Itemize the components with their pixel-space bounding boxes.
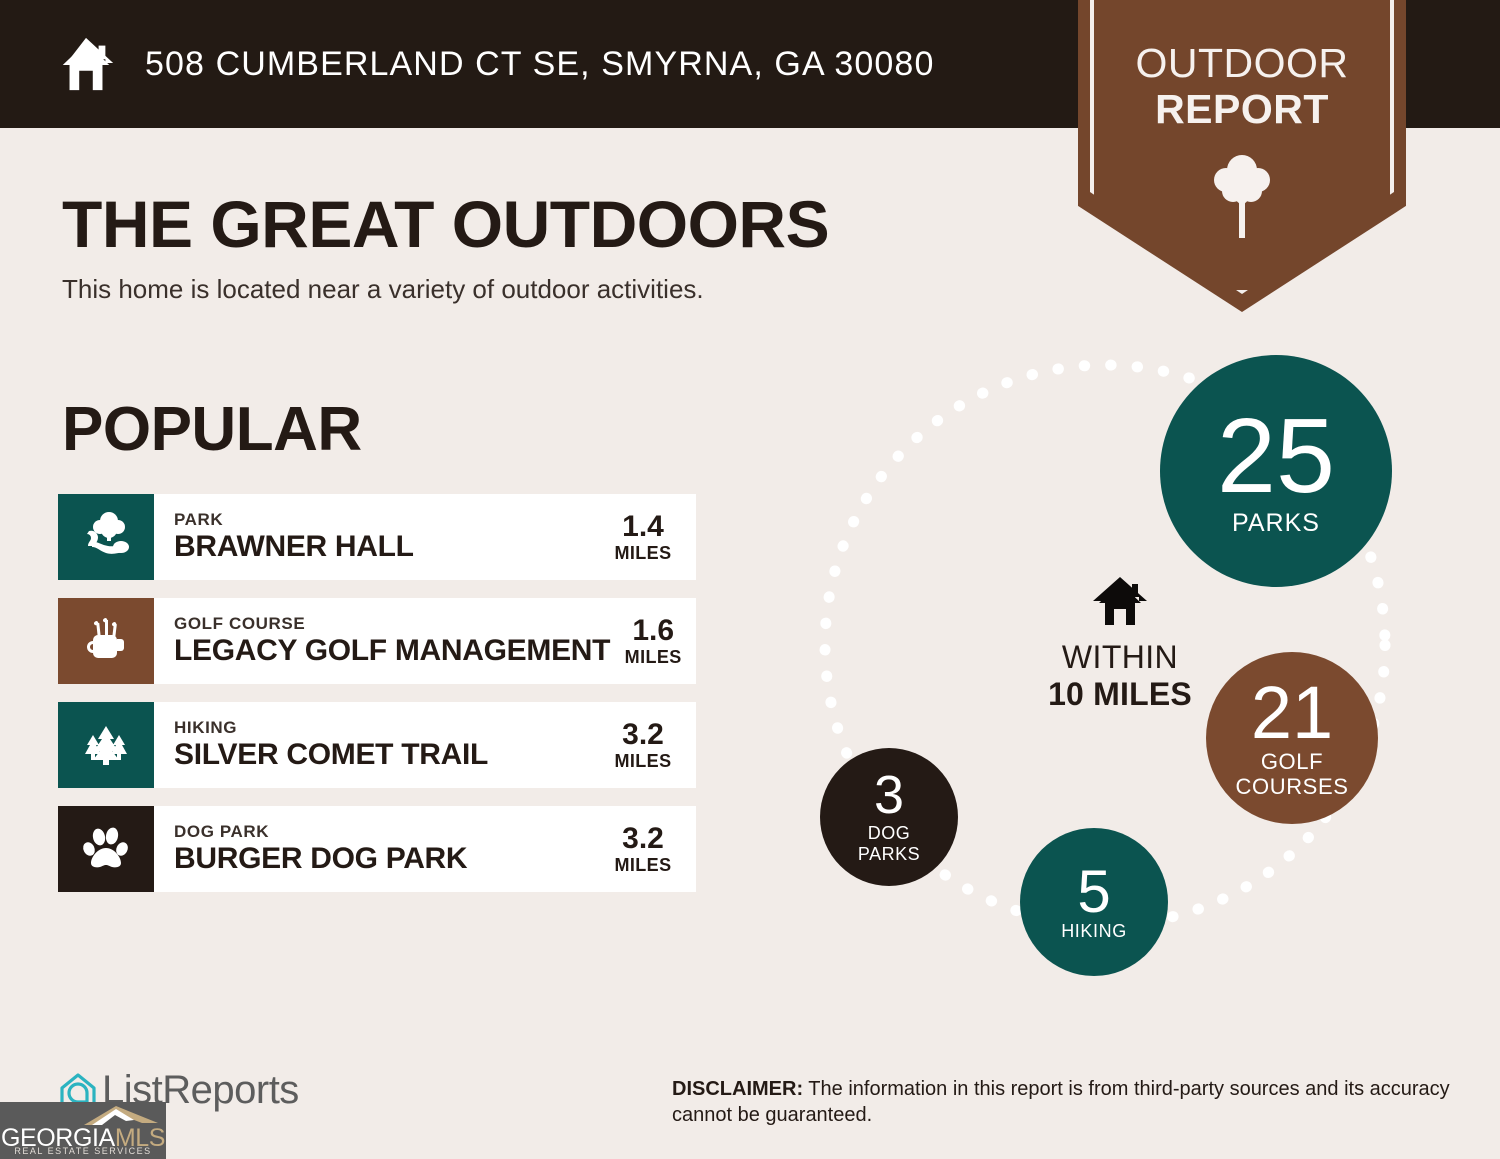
poi-name: BURGER DOG PARK [174,842,600,877]
poi-distance-unit: MILES [614,751,671,772]
bubble-golf-label-line2: COURSES [1236,775,1349,798]
paw-print-icon [80,821,132,878]
list-item[interactable]: HIKING SILVER COMET TRAIL 3.2 MILES [58,702,696,788]
bubble-dogparks-label-line1: DOG [868,824,911,843]
poi-name: SILVER COMET TRAIL [174,738,600,773]
bubble-center-line2: 10 MILES [1048,676,1192,713]
bubble-dogparks-value: 3 [874,770,904,821]
poi-distance: 1.6 MILES [610,598,706,684]
bubble-dog-parks[interactable]: 3 DOG PARKS [820,748,958,886]
poi-category: DOG PARK [174,822,600,842]
tree-icon [1209,150,1275,242]
page-title: THE GREAT OUTDOORS [62,186,829,262]
poi-text: HIKING SILVER COMET TRAIL [154,702,600,788]
poi-icon-box [58,494,154,580]
badge-title-line2: REPORT [1078,88,1406,131]
poi-text: GOLF COURSE LEGACY GOLF MANAGEMENT [154,598,610,684]
poi-distance-unit: MILES [625,647,682,668]
bubble-center-line1: WITHIN [1062,639,1178,676]
pine-trees-icon [80,717,132,774]
bubble-parks-label: PARKS [1232,510,1320,536]
bubble-golf-label-line1: GOLF [1261,750,1323,773]
poi-icon-box [58,598,154,684]
popular-poi-list: PARK BRAWNER HALL 1.4 MILES [58,494,696,910]
poi-distance-value: 3.2 [622,822,664,855]
poi-category: PARK [174,510,600,530]
poi-distance-unit: MILES [614,543,671,564]
popular-heading: POPULAR [62,394,362,465]
bubble-chart-center: WITHIN 10 MILES [970,575,1270,713]
golf-bag-icon [80,613,132,670]
disclaimer: DISCLAIMER: The information in this repo… [672,1076,1462,1129]
poi-text: PARK BRAWNER HALL [154,494,600,580]
park-tree-path-icon [80,509,132,566]
mls-subtitle: REAL ESTATE SERVICES [0,1146,166,1156]
poi-icon-box [58,702,154,788]
bubble-hiking-label: HIKING [1061,922,1127,941]
poi-name: BRAWNER HALL [174,530,600,565]
bubble-hiking-value: 5 [1077,863,1110,920]
bubble-dogparks-label-line2: PARKS [858,845,920,864]
poi-name: LEGACY GOLF MANAGEMENT [174,634,610,669]
bubble-parks[interactable]: 25 PARKS [1160,355,1392,587]
bubble-parks-value: 25 [1217,406,1335,507]
bubble-hiking[interactable]: 5 HIKING [1020,828,1168,976]
poi-distance-unit: MILES [614,855,671,876]
list-item[interactable]: DOG PARK BURGER DOG PARK 3.2 MILES [58,806,696,892]
home-icon [1091,575,1149,627]
within-10-miles-bubble-chart: 25 PARKS 21 GOLF COURSES 5 HIKING 3 DOG … [790,340,1450,1000]
poi-category: GOLF COURSE [174,614,610,634]
home-icon [55,33,117,95]
poi-distance: 3.2 MILES [600,702,696,788]
outdoor-report-badge: OUTDOOR REPORT [1078,0,1406,312]
list-item[interactable]: GOLF COURSE LEGACY GOLF MANAGEMENT 1.6 M… [58,598,696,684]
poi-distance-value: 1.4 [622,510,664,543]
poi-distance: 3.2 MILES [600,806,696,892]
poi-distance-value: 1.6 [632,614,674,647]
poi-distance: 1.4 MILES [600,494,696,580]
poi-text: DOG PARK BURGER DOG PARK [154,806,600,892]
poi-distance-value: 3.2 [622,718,664,751]
poi-icon-box [58,806,154,892]
page-subtitle: This home is located near a variety of o… [62,274,704,305]
property-address: 508 CUMBERLAND CT SE, SMYRNA, GA 30080 [145,45,934,84]
badge-title-line1: OUTDOOR [1078,42,1406,85]
poi-category: HIKING [174,718,600,738]
mls-roof-icon [82,1104,160,1126]
list-item[interactable]: PARK BRAWNER HALL 1.4 MILES [58,494,696,580]
georgia-mls-logo: GEORGIAMLS REAL ESTATE SERVICES [0,1102,166,1159]
disclaimer-label: DISCLAIMER: [672,1078,803,1100]
